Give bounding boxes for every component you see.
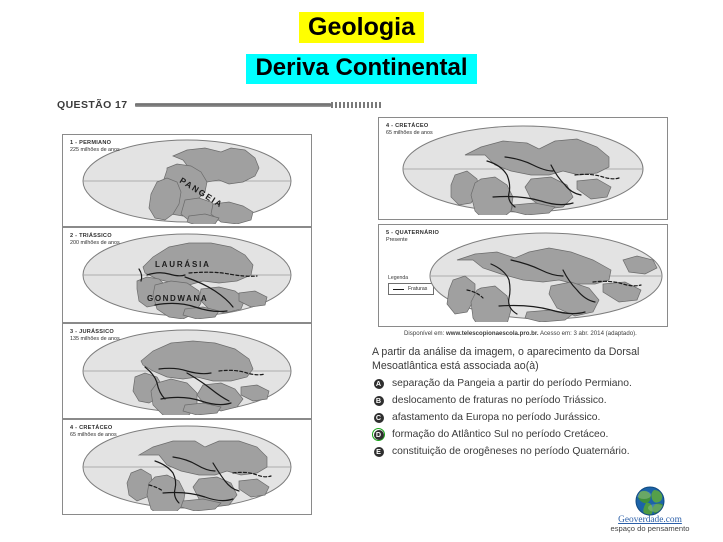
source-citation: Disponível em: www.telescopionaescola.pr… <box>404 330 637 337</box>
panel-label-6: 5 - QUATERNÁRIO Presente <box>386 230 439 244</box>
map-panel-jurassico: 3 - JURÁSSICO 135 milhões de anos <box>62 323 312 419</box>
title-row: Geologia <box>0 12 723 43</box>
question-header: QUESTÃO 17 <box>57 99 383 111</box>
map-panel-triassico: 2 - TRIÁSSICO 200 milhões de anos <box>62 227 312 323</box>
legend-caption: Legenda <box>388 275 408 281</box>
panel-label-2: 2 - TRIÁSSICO 200 milhões de anos <box>70 233 120 247</box>
option-d[interactable]: D formação do Atlântico Sul no período C… <box>372 428 682 442</box>
globe-icon <box>635 486 665 516</box>
option-bullet-a[interactable]: A <box>372 378 385 391</box>
map-panel-cretaceo-right: 4 - CRETÁCEO 65 milhões de anos <box>378 117 668 220</box>
svg-text:LAURÁSIA: LAURÁSIA <box>155 260 211 269</box>
legend-item-label: Fraturas <box>408 286 427 292</box>
map-panel-cretaceo-left: 4 - CRETÁCEO 65 milhões de anos <box>62 419 312 515</box>
fracture-line-icon <box>393 289 404 290</box>
option-text-a: separação da Pangeia a partir do período… <box>392 377 632 390</box>
page-subtitle: Deriva Continental <box>246 54 476 84</box>
option-text-d: formação do Atlântico Sul no período Cre… <box>392 428 608 441</box>
option-text-c: afastamento da Europa no período Jurássi… <box>392 411 600 424</box>
option-bullet-b[interactable]: B <box>372 394 385 407</box>
option-bullet-e[interactable]: E <box>372 445 385 458</box>
option-b[interactable]: B deslocamento de fraturas no período Tr… <box>372 394 682 408</box>
question-number: QUESTÃO 17 <box>57 99 128 111</box>
question-stem: A partir da análise da imagem, o apareci… <box>372 345 678 374</box>
svg-text:GONDWANA: GONDWANA <box>147 294 208 303</box>
option-text-b: deslocamento de fraturas no período Triá… <box>392 394 607 407</box>
site-logo[interactable]: Geoverdade.com espaço do pensamento <box>600 486 700 534</box>
map-panel-permiano: 1 - PERMIANO 225 milhões de anos PANGEIA <box>62 134 312 227</box>
option-a[interactable]: A separação da Pangeia a partir do perío… <box>372 377 682 391</box>
panel-label-4: 4 - CRETÁCEO 65 milhões de anos <box>70 425 117 439</box>
answer-options-list: A separação da Pangeia a partir do perío… <box>372 377 682 461</box>
option-bullet-c[interactable]: C <box>372 411 385 424</box>
panel-label-5: 4 - CRETÁCEO 65 milhões de anos <box>386 123 433 137</box>
map-panel-quaternario: 5 - QUATERNÁRIO Presente Legenda Fratura… <box>378 224 668 327</box>
slide-canvas: Geologia Deriva Continental QUESTÃO 17 1… <box>0 0 723 542</box>
header-rule-icon <box>135 101 383 110</box>
option-bullet-d[interactable]: D <box>372 428 385 441</box>
page-title: Geologia <box>299 12 424 43</box>
panel-label-3: 3 - JURÁSSICO 135 milhões de anos <box>70 329 120 343</box>
logo-tagline: espaço do pensamento <box>600 525 700 533</box>
option-c[interactable]: C afastamento da Europa no período Jurás… <box>372 411 682 425</box>
subtitle-row: Deriva Continental <box>0 54 723 84</box>
mollweide-map-cretaceo-right <box>399 123 647 215</box>
option-e[interactable]: E constituição de orogêneses no período … <box>372 445 682 459</box>
panel-label-1: 1 - PERMIANO 225 milhões de anos <box>70 140 120 154</box>
option-text-e: constituição de orogêneses no período Qu… <box>392 445 630 458</box>
mollweide-map-quaternario <box>427 230 665 322</box>
